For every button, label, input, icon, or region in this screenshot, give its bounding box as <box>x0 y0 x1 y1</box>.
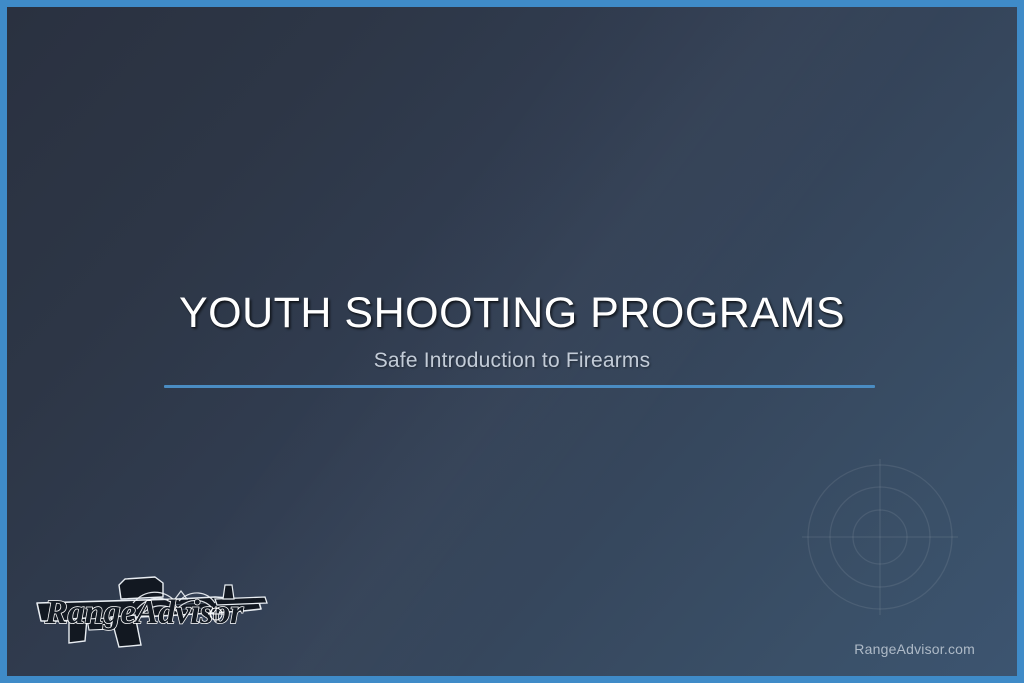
page-title: YOUTH SHOOTING PROGRAMS <box>7 290 1017 336</box>
rangeadvisor-logo: RangeAdvisor <box>29 569 279 661</box>
presentation-slide: YOUTH SHOOTING PROGRAMS Safe Introductio… <box>0 0 1024 683</box>
title-block: YOUTH SHOOTING PROGRAMS Safe Introductio… <box>7 290 1017 373</box>
title-divider-rule <box>164 385 875 388</box>
page-subtitle: Safe Introduction to Firearms <box>7 349 1017 373</box>
footer-website-url: RangeAdvisor.com <box>854 641 975 657</box>
logo-wordmark: RangeAdvisor <box>44 594 244 631</box>
